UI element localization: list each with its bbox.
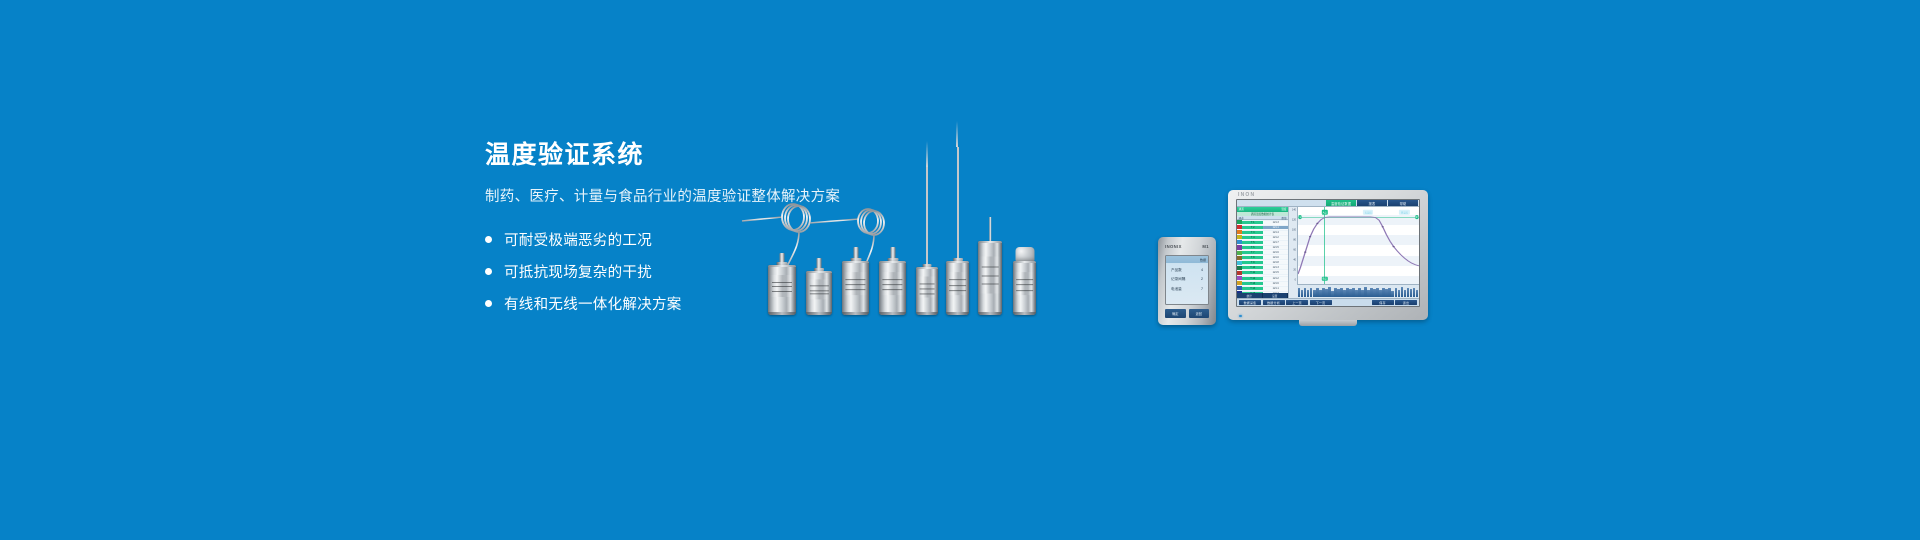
logger-label	[948, 272, 968, 296]
x-tick	[1410, 289, 1412, 297]
ref-left-handle[interactable]: L	[1299, 216, 1302, 220]
validation-software-monitor: INON 温度验证数据 报表 帮助 通道 温度	[1228, 190, 1428, 320]
x-tick	[1391, 291, 1393, 297]
channel-name: T 14	[1242, 287, 1263, 290]
save-button[interactable]: 保存	[1372, 300, 1394, 305]
handheld-reader-device: INONIX M1 数据 产品数 4 记录间隔 2 电池量 7 确定 返回	[1158, 237, 1216, 325]
channel-value: 121.8	[1263, 261, 1288, 264]
channel-rows: T 1121.3 T 2121.1 T 3121.4 T 4121.2 T 51…	[1237, 220, 1288, 293]
topbar-spacer	[1237, 200, 1326, 206]
channel-value: 121.7	[1263, 241, 1288, 244]
temperature-curve-svg	[1298, 207, 1419, 284]
logger-label	[1015, 272, 1035, 296]
data-analyze-button[interactable]: 数据分析	[1263, 300, 1285, 305]
cursor-top-marker[interactable]: A点	[1321, 210, 1327, 215]
logger-body	[946, 261, 969, 315]
logger-body	[1013, 261, 1036, 315]
channel-name: T 11	[1242, 271, 1263, 274]
feature-label: 有线和无线一体化解决方案	[504, 293, 682, 314]
y-tick-label: 140	[1292, 209, 1296, 212]
reader-brand-name: INONIX	[1165, 244, 1182, 249]
x-tick	[1398, 290, 1400, 297]
toolbar-spacer	[1333, 300, 1370, 305]
data-logger-1	[768, 263, 796, 315]
logger-label	[980, 257, 1001, 294]
channel-value: 121.3	[1263, 266, 1288, 269]
data-logger-5	[916, 263, 938, 315]
data-logger-2	[806, 267, 832, 315]
channel-name: T 13	[1242, 282, 1263, 285]
app-top-tabbar: 温度验证数据 报表 帮助	[1237, 200, 1419, 207]
segment-label-sterilize: 灭菌段	[1363, 210, 1373, 215]
channel-value: 121.5	[1263, 246, 1288, 249]
channel-value: 121.0	[1263, 256, 1288, 259]
reader-screen: 数据 产品数 4 记录间隔 2 电池量 7	[1165, 255, 1209, 305]
reader-confirm-button[interactable]: 确定	[1165, 309, 1186, 318]
y-tick-label: 80	[1293, 239, 1296, 242]
feature-label: 可抵抗现场复杂的干扰	[504, 261, 652, 282]
channel-value: 121.2	[1263, 277, 1288, 280]
reader-row-label: 记录间隔	[1171, 277, 1185, 282]
channel-name: T 6	[1242, 246, 1263, 249]
x-tick	[1401, 287, 1403, 296]
bullet-dot-icon	[485, 236, 492, 243]
channel-value: 121.4	[1263, 231, 1288, 234]
x-tick	[1404, 290, 1406, 296]
next-page-button[interactable]: 下一页	[1310, 300, 1332, 305]
power-led-icon	[1239, 315, 1242, 318]
ref-right-handle[interactable]: R	[1415, 216, 1418, 220]
channel-name: T 12	[1242, 277, 1263, 280]
channel-name: T 2	[1242, 226, 1263, 229]
logger-body	[978, 241, 1002, 315]
channel-name: T 7	[1242, 251, 1263, 254]
reader-row-label: 产品数	[1171, 268, 1182, 273]
channel-name: T 5	[1242, 241, 1263, 244]
data-logger-3	[842, 257, 869, 315]
segment-label-cooldown: 降温段	[1399, 210, 1409, 215]
y-tick-label: 20	[1293, 269, 1296, 272]
coiled-probe-wire-1	[740, 195, 940, 273]
logger-body	[806, 271, 832, 315]
channel-name: T 8	[1242, 256, 1263, 259]
channel-value: 121.5	[1263, 271, 1288, 274]
reader-data-row: 产品数 4	[1166, 268, 1208, 273]
logger-body	[879, 261, 906, 315]
channel-value: 121.3	[1263, 221, 1288, 224]
tab-report[interactable]: 报表	[1357, 200, 1387, 206]
logger-label	[881, 272, 904, 296]
channel-value: 121.6	[1263, 251, 1288, 254]
chart-zone: 140 120 100 80 60 40 20 0	[1289, 207, 1419, 298]
logger-body	[916, 267, 938, 315]
channel-name: T 9	[1242, 261, 1263, 264]
reader-data-row: 记录间隔 2	[1166, 277, 1208, 282]
reader-row-label: 电池量	[1171, 287, 1182, 292]
sintered-filter-icon	[1015, 247, 1034, 261]
channel-name: T 10	[1242, 266, 1263, 269]
column-header-value: 数值	[1281, 216, 1286, 220]
tab-help[interactable]: 帮助	[1388, 200, 1418, 206]
y-tick-label: 60	[1293, 249, 1296, 252]
monitor-brand-name: INON	[1238, 192, 1255, 198]
needle-probe-icon	[957, 147, 959, 259]
data-logger-6	[946, 257, 969, 315]
channel-value: 121.2	[1263, 236, 1288, 239]
y-tick-label: 0	[1295, 279, 1296, 282]
cursor-bottom-marker[interactable]: B点	[1321, 276, 1327, 281]
channel-name: T 1	[1242, 221, 1263, 224]
prev-page-button[interactable]: 上一页	[1286, 300, 1308, 305]
product-photo-group	[740, 115, 1210, 315]
channel-name: T 3	[1242, 231, 1263, 234]
logger-body	[842, 261, 869, 315]
reader-row-value: 7	[1201, 287, 1203, 292]
monitor-screen: 温度验证数据 报表 帮助 通道 温度 通道温度数据统计表 通道	[1236, 199, 1420, 307]
thin-wire-probe-icon	[989, 217, 991, 241]
reader-branding: INONIX M1	[1158, 244, 1216, 249]
bullet-dot-icon	[485, 268, 492, 275]
monitor-bezel: INON 温度验证数据 报表 帮助 通道 温度	[1228, 190, 1428, 320]
reader-back-button[interactable]: 返回	[1189, 309, 1210, 318]
hero-banner: 温度验证系统 制药、医疗、计量与食品行业的温度验证整体解决方案 可耐受极端恶劣的…	[0, 0, 1920, 540]
channel-data-panel: 通道 温度 通道温度数据统计表 通道 数值 T 1121.3 T 2121.1 …	[1237, 207, 1289, 298]
reader-keypad: 确定 返回	[1165, 309, 1209, 318]
x-tick	[1416, 290, 1418, 296]
logger-label	[918, 277, 937, 298]
data-logger-4	[879, 257, 906, 315]
logger-label	[844, 272, 867, 296]
column-header-channel: 通道	[1239, 216, 1244, 220]
x-tick	[1407, 288, 1409, 296]
channel-value: 121.6	[1263, 282, 1288, 285]
logger-label	[808, 280, 830, 299]
y-tick-label: 40	[1293, 259, 1296, 262]
data-logger-8	[1013, 257, 1036, 315]
feature-label: 可耐受极端恶劣的工况	[504, 229, 652, 250]
monitor-stand	[1299, 320, 1357, 326]
channel-value: 121.1	[1263, 287, 1288, 290]
reader-row-value: 4	[1201, 268, 1203, 273]
app-body: 通道 温度 通道温度数据统计表 通道 数值 T 1121.3 T 2121.1 …	[1237, 207, 1419, 298]
channel-name: T 4	[1242, 236, 1263, 239]
x-tick	[1413, 288, 1415, 297]
chart-y-axis: 140 120 100 80 60 40 20 0	[1289, 207, 1297, 284]
app-bottom-toolbar: 数据采集 数据分析 上一页 下一页 保存 退出	[1237, 298, 1419, 306]
logger-body	[768, 265, 796, 315]
exit-button[interactable]: 退出	[1395, 300, 1417, 305]
data-collect-button[interactable]: 数据采集	[1239, 300, 1261, 305]
data-logger-7	[978, 239, 1002, 315]
logger-label	[770, 275, 794, 297]
chart-plot-area[interactable]: A点 B点 L R 灭菌段 降温段	[1297, 207, 1419, 284]
reader-status-label: 数据	[1200, 258, 1206, 262]
y-tick-label: 120	[1292, 219, 1296, 222]
reader-data-row: 电池量 7	[1166, 287, 1208, 292]
x-tick	[1395, 288, 1397, 297]
y-tick-label: 100	[1292, 229, 1296, 232]
channel-value: 121.1	[1263, 226, 1288, 229]
reader-model: M1	[1202, 244, 1209, 249]
chart-main: 140 120 100 80 60 40 20 0	[1289, 207, 1419, 284]
chart-x-axis-strip[interactable]	[1297, 284, 1419, 298]
needle-probe-icon	[926, 167, 928, 265]
tab-validation-data[interactable]: 温度验证数据	[1326, 200, 1356, 206]
reader-row-value: 2	[1201, 277, 1203, 282]
bullet-dot-icon	[485, 300, 492, 307]
reader-status-bar: 数据	[1166, 256, 1208, 263]
